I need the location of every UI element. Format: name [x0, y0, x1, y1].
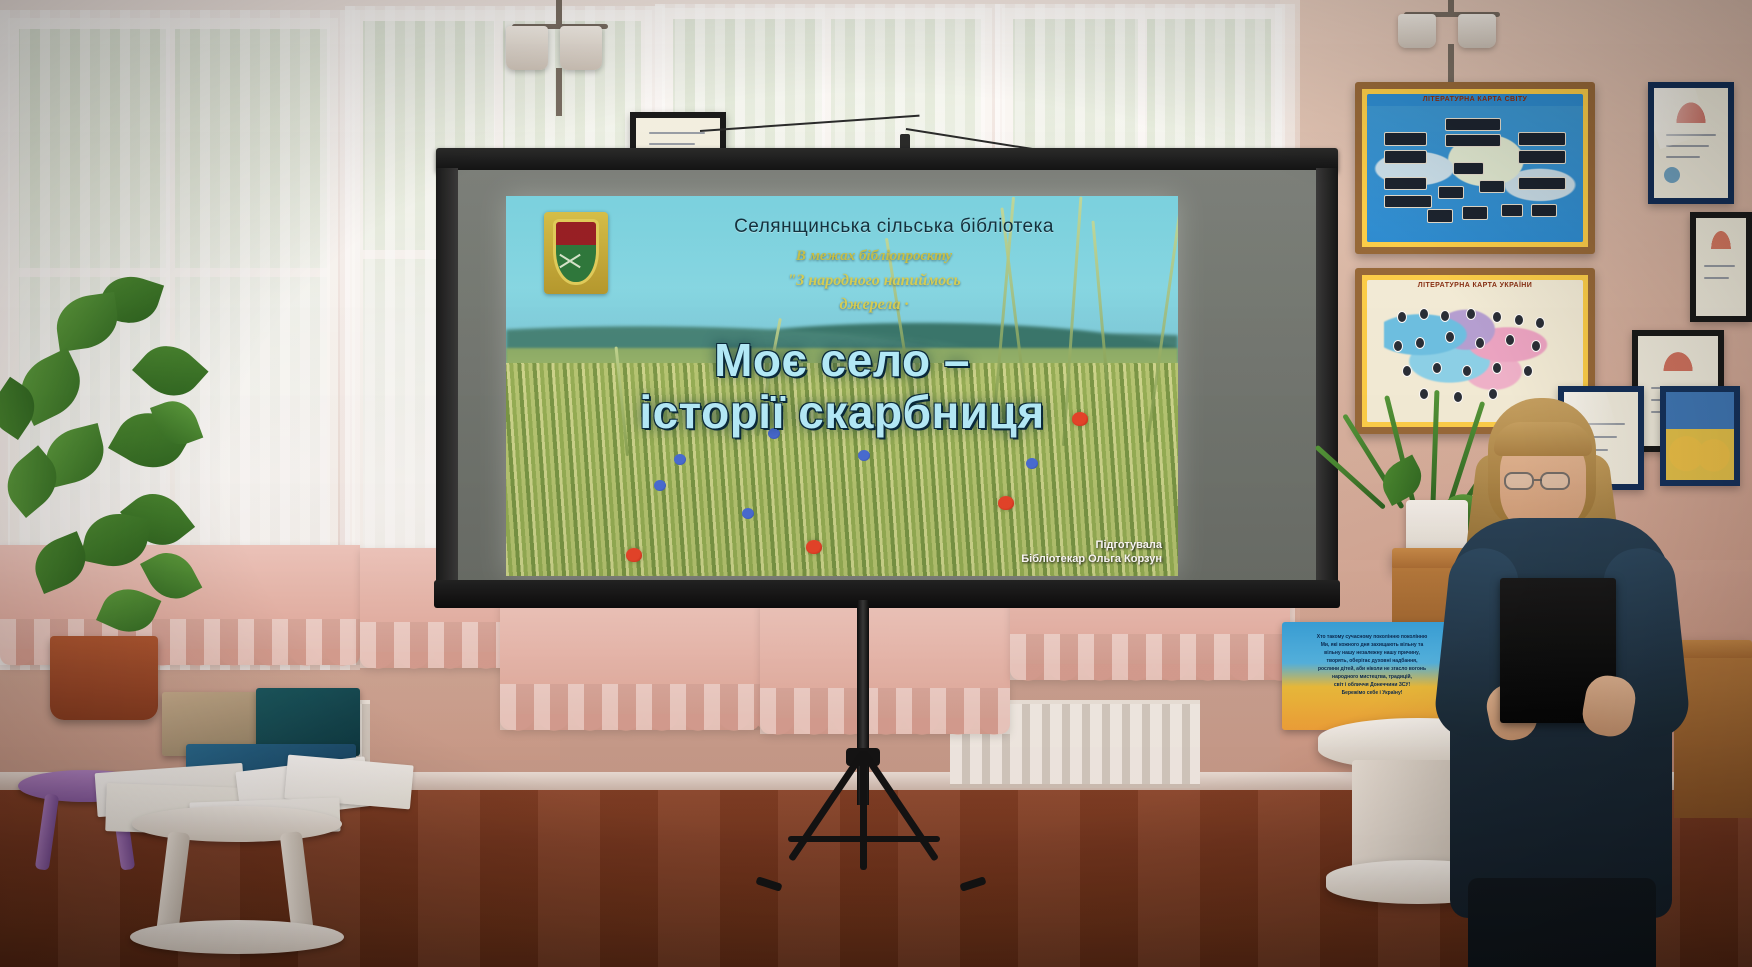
presenter [1432, 398, 1692, 967]
poster-ukraine-title: ЛІТЕРАТУРНА КАРТА УКРАЇНИ [1367, 282, 1583, 289]
glasses-bridge [1534, 479, 1542, 481]
photo-scene: ЛІТЕРАТУРНА КАРТА СВІТУ ЛІТЕРАТУРНА КАРТ… [0, 0, 1752, 967]
screen-left-edge [436, 168, 458, 598]
certificate-frame-2 [1690, 212, 1752, 322]
slide-project-line-2: "З народного напиймось [624, 272, 1124, 290]
screen-bottom-bar [434, 580, 1340, 608]
valance-under-screen-right [760, 602, 1010, 734]
table-top [132, 806, 342, 842]
certificate-frame-1 [1648, 82, 1734, 204]
slide-project-line-3: джерела · [624, 296, 1124, 314]
slide-title-line-1: Моє село – [506, 334, 1178, 386]
valance-under-screen-left [500, 600, 760, 730]
slide-credit: Підготувала Бібліотекар Ольга Корзун [1021, 538, 1162, 566]
screen-right-edge [1316, 168, 1338, 598]
info-sign-text: Хто такому сучасному поколінню поколінню… [1293, 633, 1451, 697]
slide-project-line-1: В межах бібліопроєкту [624, 248, 1124, 265]
screen-top-bar [436, 148, 1338, 172]
glasses-right-lens [1540, 472, 1570, 490]
tripod-leg-center [860, 752, 867, 870]
coat-of-arms-emblem [544, 212, 608, 294]
presenter-bangs [1494, 422, 1592, 456]
poster-world-title: ЛІТЕРАТУРНА КАРТА СВІТУ [1367, 96, 1583, 103]
slide-library-name: Селянщинська сільська бібліотека [624, 216, 1164, 238]
slide-title-line-2: історії скарбниця [506, 386, 1178, 438]
screen-canvas: Селянщинська сільська бібліотека В межах… [458, 170, 1316, 582]
table-base [130, 920, 344, 954]
projector-screen: Селянщинська сільська бібліотека В межах… [430, 148, 1340, 618]
presenter-skirt [1468, 878, 1656, 967]
slide-credit-line-1: Підготувала [1021, 538, 1162, 552]
slide-credit-line-2: Бібліотекар Ольга Корзун [1021, 552, 1162, 566]
glasses-left-lens [1504, 472, 1534, 490]
plant-pot-left [50, 636, 158, 720]
poster-literary-map-world: ЛІТЕРАТУРНА КАРТА СВІТУ [1355, 82, 1595, 254]
projected-slide: Селянщинська сільська бібліотека В межах… [506, 196, 1178, 576]
tripod-brace [788, 836, 940, 842]
